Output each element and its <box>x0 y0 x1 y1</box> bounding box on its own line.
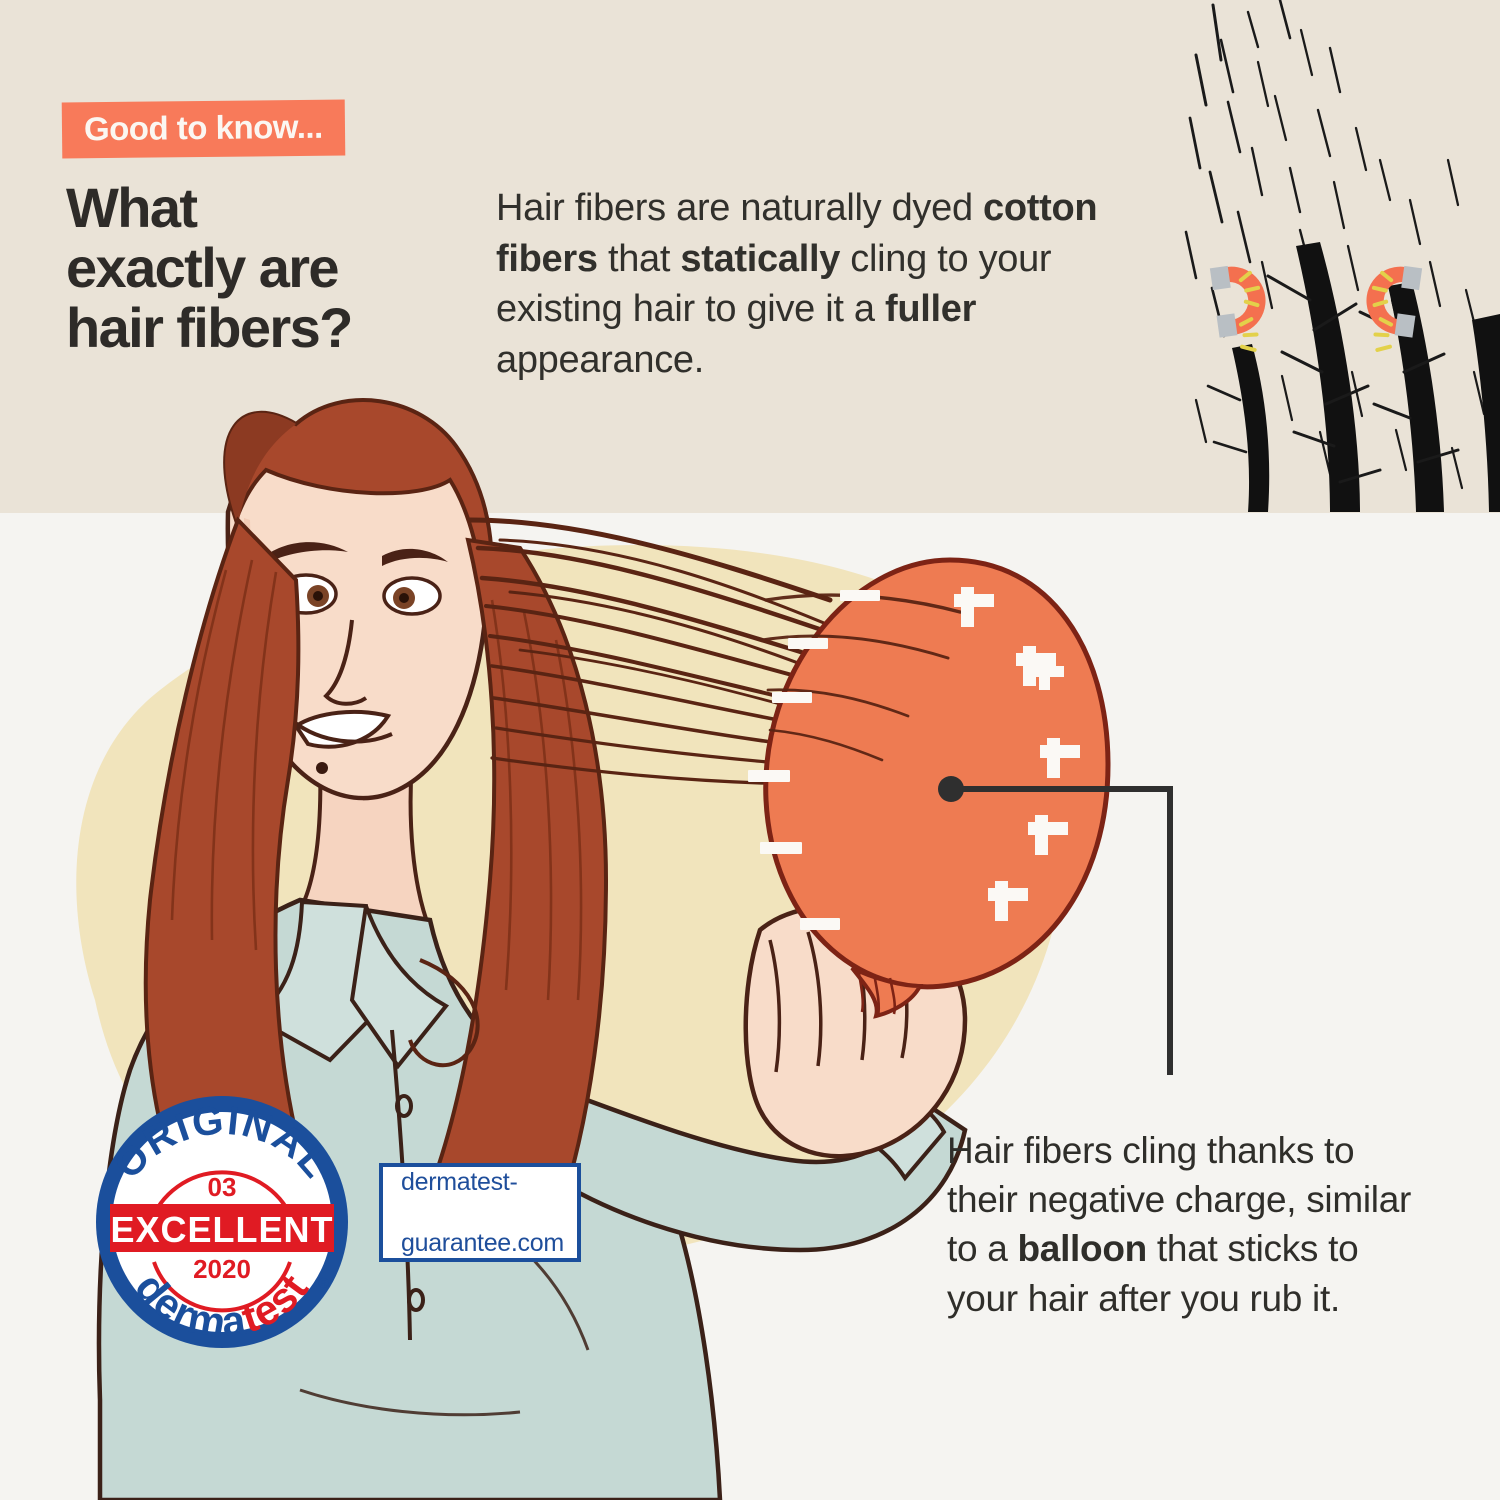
infographic-canvas: Good to know... What exactly are hair fi… <box>0 0 1500 1500</box>
url-line-1: dermatest- <box>401 1167 564 1198</box>
plain-text: appearance. <box>496 339 704 381</box>
seal-number: 03 <box>208 1172 237 1202</box>
dermatest-seal: ORIGINAL 03 EXCELLENT 2020 dermatest ® <box>78 1092 366 1352</box>
dermatest-url-box[interactable]: dermatest- guarantee.com <box>379 1163 581 1262</box>
emphasis-text: statically <box>680 238 840 280</box>
headline-line-1: What <box>66 178 486 238</box>
seal-rating: EXCELLENT <box>110 1209 333 1250</box>
plain-text: that <box>598 238 681 280</box>
seal-registered-mark: ® <box>318 1275 329 1292</box>
plain-text: Hair fibers are naturally dyed <box>496 187 983 229</box>
eyebrow-badge: Good to know... <box>62 100 345 159</box>
url-text: dermatest- guarantee.com <box>401 1167 564 1259</box>
emphasis-text: balloon <box>1018 1228 1147 1269</box>
headline-line-3: hair fibers? <box>66 298 486 358</box>
headline-line-2: exactly are <box>66 238 486 298</box>
emphasis-text: fuller <box>885 288 976 330</box>
eyebrow-label: Good to know... <box>84 110 323 145</box>
page-title: What exactly are hair fibers? <box>66 178 486 358</box>
balloon-caption: Hair fibers cling thanks to their negati… <box>947 1126 1417 1323</box>
body-copy: Hair fibers are naturally dyed cotton fi… <box>496 183 1156 385</box>
seal-year: 2020 <box>193 1254 251 1284</box>
url-line-2: guarantee.com <box>401 1228 564 1259</box>
